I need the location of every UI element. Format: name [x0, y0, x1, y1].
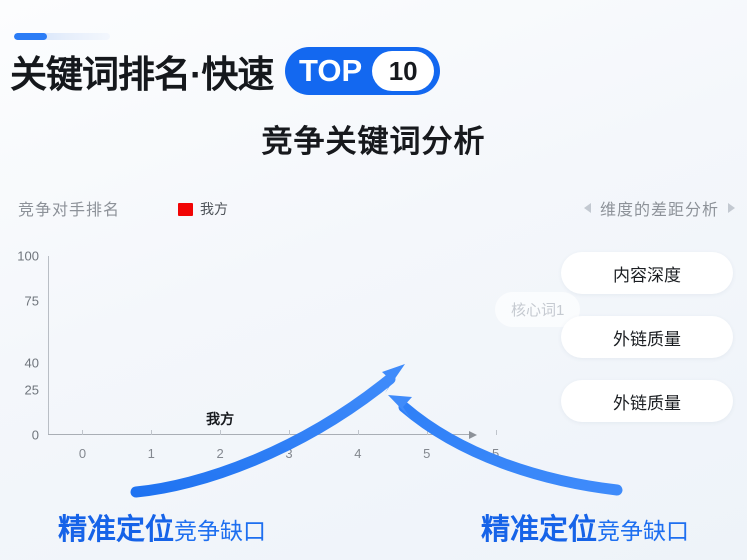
y-tick-label: 25 [25, 383, 39, 398]
page-title-text: 关键词排名·快速 [10, 44, 273, 98]
legend-label: 我方 [200, 199, 228, 219]
dimension-card-list: 内容深度外链质量外链质量 [561, 252, 733, 422]
bar-chart: 1007540250 我方 0123455 [10, 248, 530, 473]
caption-left-secondary: 竞争缺口 [174, 512, 266, 546]
page-title: 关键词排名·快速 [10, 44, 273, 98]
dimension-gap-header: 维度的差距分析 [584, 196, 735, 220]
dimension-card-label: 内容深度 [613, 261, 681, 286]
y-tick-label: 0 [32, 428, 39, 443]
chart-x-tick-labels: 0123455 [48, 446, 530, 461]
legend-color-swatch [178, 203, 193, 216]
chevron-left-icon [584, 203, 591, 213]
progress-bar-fill [14, 33, 47, 40]
x-axis-tick-mark [496, 430, 497, 435]
x-tick-label: 5 [461, 446, 530, 461]
caption-right: 精准定位 竞争缺口 [481, 506, 689, 548]
x-tick-label: 5 [392, 446, 461, 461]
top-badge-number-chip: 10 [372, 51, 434, 91]
chart-legend: 我方 [178, 199, 228, 219]
x-tick-label: 1 [117, 446, 186, 461]
dimension-gap-label: 维度的差距分析 [600, 196, 719, 220]
dimension-card-label: 外链质量 [613, 325, 681, 350]
chart-bars: 我方 [48, 256, 530, 435]
x-axis-tick-mark [220, 430, 221, 435]
dimension-card[interactable]: 外链质量 [561, 316, 733, 358]
caption-left-primary: 精准定位 [58, 506, 174, 548]
y-tick-label: 40 [25, 356, 39, 371]
x-tick-label: 4 [323, 446, 392, 461]
x-axis-tick-mark [151, 430, 152, 435]
caption-right-secondary: 竞争缺口 [597, 512, 689, 546]
dimension-card[interactable]: 内容深度 [561, 252, 733, 294]
top-badge-number: 10 [389, 56, 418, 87]
caption-right-primary: 精准定位 [481, 506, 597, 548]
top-badge-label: TOP [299, 53, 362, 89]
bar-highlight-label: 我方 [206, 409, 234, 429]
dimension-card-label: 外链质量 [613, 389, 681, 414]
progress-bar [14, 33, 110, 40]
x-axis-tick-mark [427, 430, 428, 435]
top-badge-pill: TOP 10 [285, 47, 440, 95]
x-tick-label: 2 [186, 446, 255, 461]
x-tick-label: 0 [48, 446, 117, 461]
x-axis-tick-mark [289, 430, 290, 435]
x-tick-label: 3 [255, 446, 324, 461]
x-axis-tick-mark [358, 430, 359, 435]
slide-canvas: 关键词排名·快速 TOP 10 竞争关键词分析 竞争对手排名 我方 维度的差距分… [0, 0, 747, 560]
caption-left: 精准定位 竞争缺口 [58, 506, 266, 548]
y-tick-label: 75 [25, 293, 39, 308]
x-axis-tick-mark [82, 430, 83, 435]
dimension-card[interactable]: 外链质量 [561, 380, 733, 422]
chart-section-label: 竞争对手排名 [18, 196, 120, 220]
page-subtitle: 竞争关键词分析 [0, 116, 747, 161]
y-tick-label: 100 [17, 249, 39, 264]
chevron-right-icon [728, 203, 735, 213]
